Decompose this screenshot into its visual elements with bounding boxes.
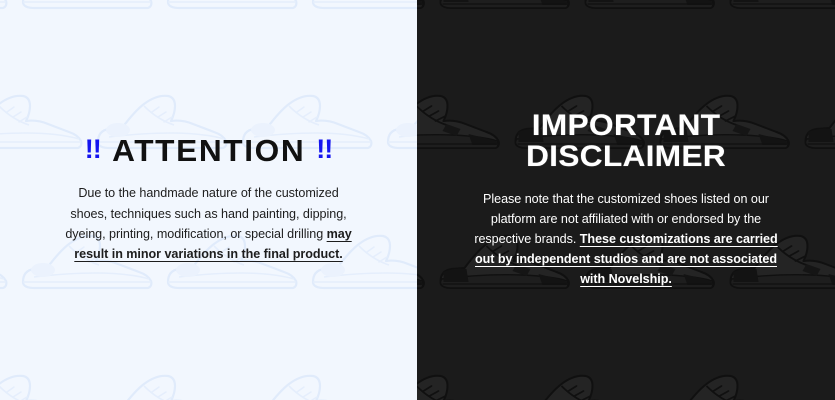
attention-heading-text: ATTENTION	[112, 135, 305, 166]
exclamation-left-icon: !!	[85, 136, 101, 163]
attention-heading: !! ATTENTION !!	[28, 135, 389, 166]
exclamation-right-icon: !!	[316, 136, 332, 163]
notice-banner: !! ATTENTION !! Due to the handmade natu…	[0, 0, 835, 400]
disclaimer-body: Please note that the customized shoes li…	[470, 189, 782, 290]
disclaimer-panel: IMPORTANT DISCLAIMER Please note that th…	[417, 0, 835, 400]
disclaimer-heading: IMPORTANT DISCLAIMER	[434, 111, 818, 173]
attention-content: !! ATTENTION !! Due to the handmade natu…	[0, 135, 417, 265]
disclaimer-content: IMPORTANT DISCLAIMER Please note that th…	[417, 111, 835, 289]
disclaimer-heading-line-2: DISCLAIMER	[434, 142, 818, 173]
attention-body-normal: Due to the handmade nature of the custom…	[65, 186, 346, 241]
attention-panel: !! ATTENTION !! Due to the handmade natu…	[0, 0, 417, 400]
disclaimer-heading-line-1: IMPORTANT	[434, 111, 818, 142]
attention-body: Due to the handmade nature of the custom…	[59, 183, 359, 265]
